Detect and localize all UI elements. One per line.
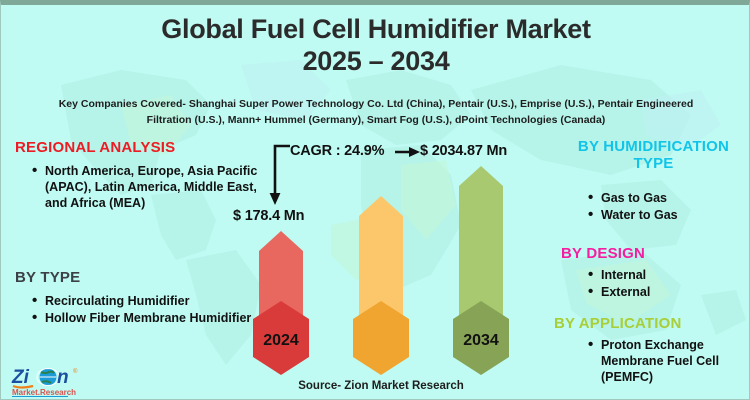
title-line-2: 2025 – 2034 — [1, 45, 750, 77]
list-item: External — [601, 284, 750, 300]
svg-text:n: n — [57, 367, 69, 388]
svg-text:Market.Research: Market.Research — [12, 388, 76, 397]
page-title: Global Fuel Cell Humidifier Market 2025 … — [1, 13, 750, 78]
svg-text:®: ® — [73, 368, 78, 375]
cagr-down-arrow-icon — [266, 143, 296, 209]
title-line-1: Global Fuel Cell Humidifier Market — [161, 14, 590, 44]
key-companies-covered: Key Companies Covered- Shanghai Super Po… — [36, 97, 716, 129]
list-by-application: Proton Exchange Membrane Fuel Cell (PEMF… — [583, 337, 750, 386]
value-2024-label: $ 178.4 Mn — [233, 208, 304, 224]
list-item: North America, Europe, Asia Pacific (APA… — [45, 163, 260, 211]
bar-label-2024: 2024 — [245, 332, 317, 350]
bar-middle — [345, 196, 417, 379]
cagr-label: CAGR : 24.9% — [290, 143, 384, 159]
growth-right-arrow-icon — [395, 145, 421, 159]
heading-by-application: BY APPLICATION — [554, 315, 682, 332]
heading-by-type: BY TYPE — [15, 269, 80, 286]
svg-text:Zi: Zi — [11, 367, 30, 388]
list-regional-analysis: North America, Europe, Asia Pacific (APA… — [27, 163, 260, 212]
infographic-canvas: Global Fuel Cell Humidifier Market 2025 … — [0, 0, 750, 400]
list-item: Internal — [601, 267, 750, 283]
list-item: Water to Gas — [601, 207, 750, 223]
heading-line-1: BY HUMIDIFICATION — [578, 138, 729, 155]
value-2034-label: $ 2034.87 Mn — [420, 143, 507, 159]
heading-by-design: BY DESIGN — [561, 245, 645, 262]
heading-line-2: TYPE — [634, 155, 674, 172]
list-by-type: Recirculating Humidifier Hollow Fiber Me… — [27, 293, 280, 327]
list-by-humidification-type: Gas to Gas Water to Gas — [583, 190, 750, 224]
heading-regional-analysis: REGIONAL ANALYSIS — [15, 139, 175, 156]
bar-label-2034: 2034 — [445, 332, 517, 350]
source-credit: Source- Zion Market Research — [191, 380, 571, 392]
zion-market-research-logo: Zi n ® Market.Research — [11, 365, 97, 399]
bar-2024 — [245, 231, 317, 379]
list-by-design: Internal External — [583, 267, 750, 301]
list-item: Proton Exchange Membrane Fuel Cell (PEMF… — [601, 337, 750, 385]
list-item: Gas to Gas — [601, 190, 750, 206]
heading-by-humidification-type: BY HUMIDIFICATION TYPE — [561, 138, 746, 173]
